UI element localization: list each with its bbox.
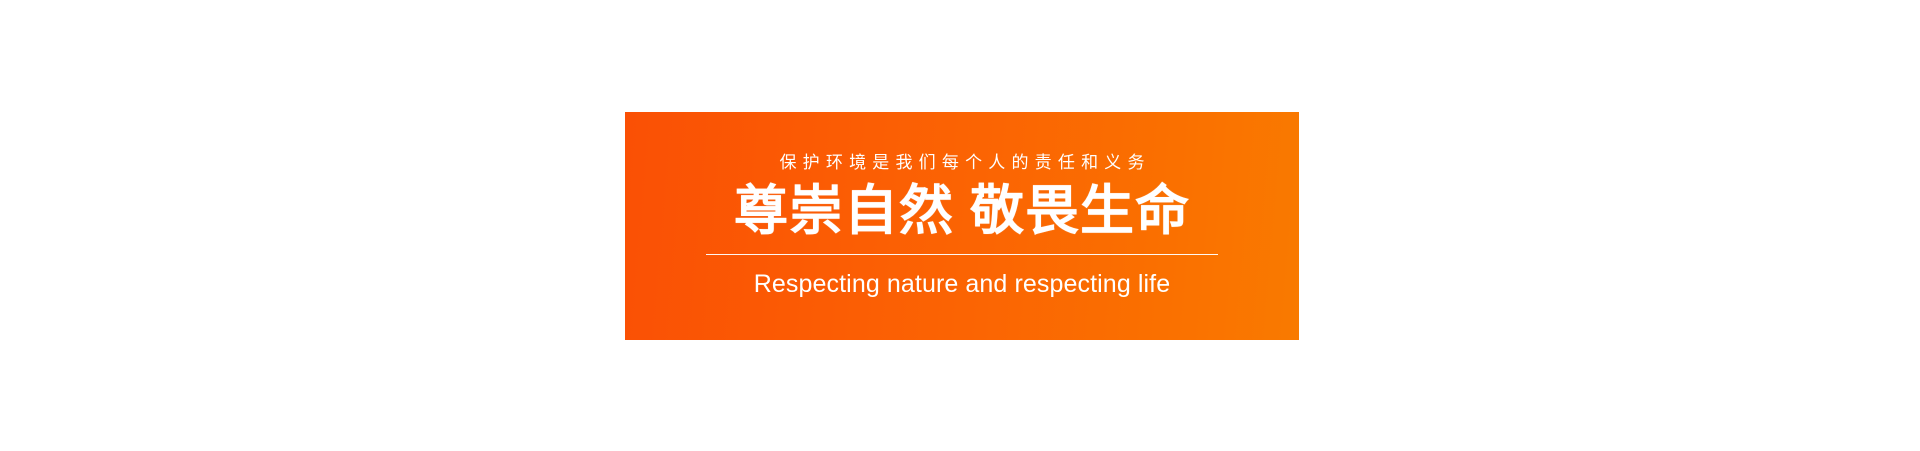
tagline-english: Respecting nature and respecting life (754, 269, 1170, 299)
divider-rule (706, 254, 1218, 255)
headline-chinese: 尊崇自然 敬畏生命 (734, 181, 1190, 241)
slogan-content-stack: 保护环境是我们每个人的责任和义务 尊崇自然 敬畏生命 Respecting na… (706, 153, 1218, 299)
slogan-panel: 保护环境是我们每个人的责任和义务 尊崇自然 敬畏生命 Respecting na… (625, 112, 1299, 340)
subtitle-chinese: 保护环境是我们每个人的责任和义务 (773, 153, 1150, 173)
environmental-slogan-banner: 保护环境是我们每个人的责任和义务 尊崇自然 敬畏生命 Respecting na… (0, 0, 1920, 451)
